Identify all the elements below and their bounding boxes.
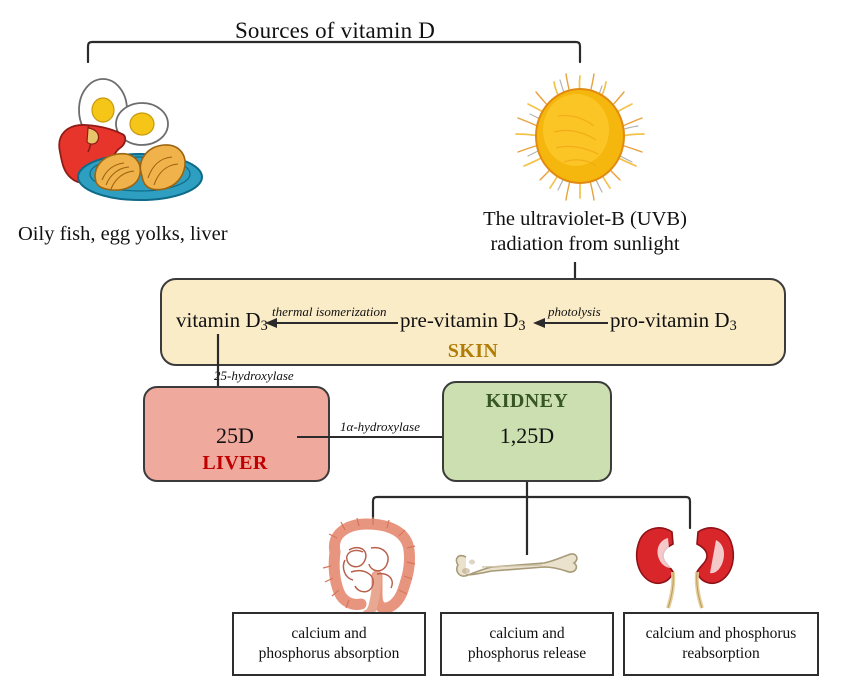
effect-box-bone: calcium and phosphorus release [440,612,614,676]
effect-kidneys-line1: calcium and phosphorus [646,624,797,644]
effect-box-kidneys: calcium and phosphorus reabsorption [623,612,819,676]
effect-kidneys-line2: reabsorption [646,644,797,664]
vitamin-d-metabolism-diagram: Sources of vitamin D Oily fish, egg yolk… [0,0,850,690]
effect-bone-line1: calcium and [468,624,586,644]
effect-intestine-line1: calcium and [259,624,400,644]
kidneys-icon [630,518,740,613]
bone-icon [452,545,582,585]
intestine-icon [315,516,425,616]
effect-bone-line2: phosphorus release [468,644,586,664]
effect-intestine-line2: phosphorus absorption [259,644,400,664]
effect-box-intestine: calcium and phosphorus absorption [232,612,426,676]
